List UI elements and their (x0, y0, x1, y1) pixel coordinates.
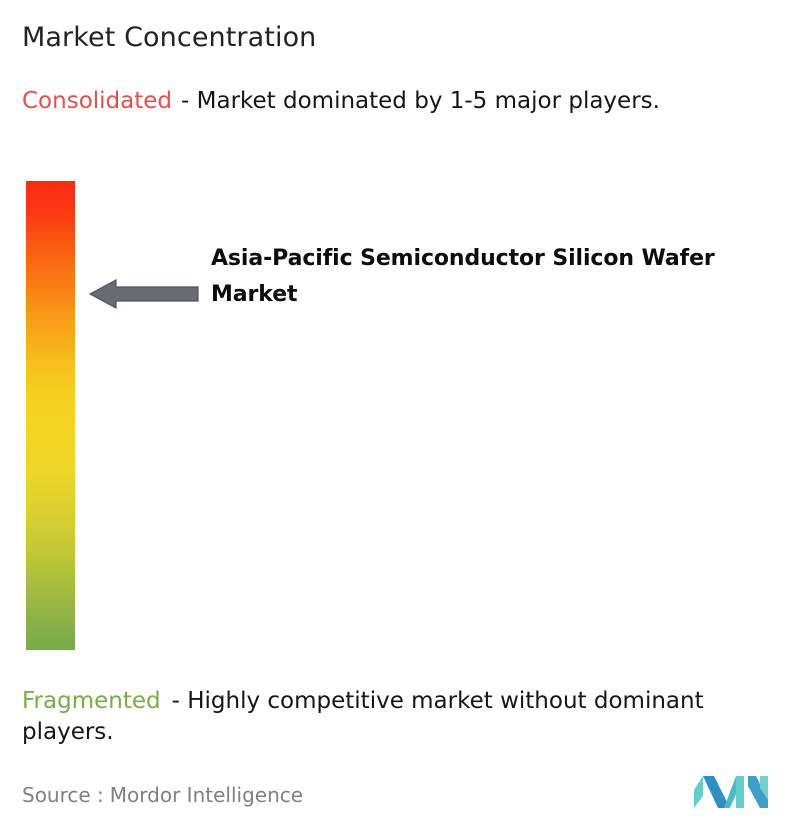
mordor-intelligence-logo-glyph (694, 770, 768, 814)
market-concentration-gradient-bar (26, 181, 75, 650)
arrow-left-icon (89, 279, 199, 309)
consolidated-keyword: Consolidated (22, 88, 172, 114)
market-label: Asia-Pacific Semiconductor Silicon Wafer… (211, 241, 771, 313)
fragmented-caption: Fragmented- Highly competitive market wi… (22, 686, 784, 748)
arrow-left-glyph (89, 279, 199, 309)
fragmented-keyword: Fragmented (22, 688, 161, 714)
source-line: Source :Mordor Intelligence (22, 782, 303, 808)
source-label: Source : (22, 783, 104, 807)
consolidated-caption: Consolidated- Market dominated by 1-5 ma… (22, 86, 774, 117)
page-title: Market Concentration (22, 20, 316, 56)
source-value: Mordor Intelligence (110, 783, 303, 807)
consolidated-description: - Market dominated by 1-5 major players. (181, 88, 660, 114)
mordor-intelligence-logo (694, 770, 768, 814)
